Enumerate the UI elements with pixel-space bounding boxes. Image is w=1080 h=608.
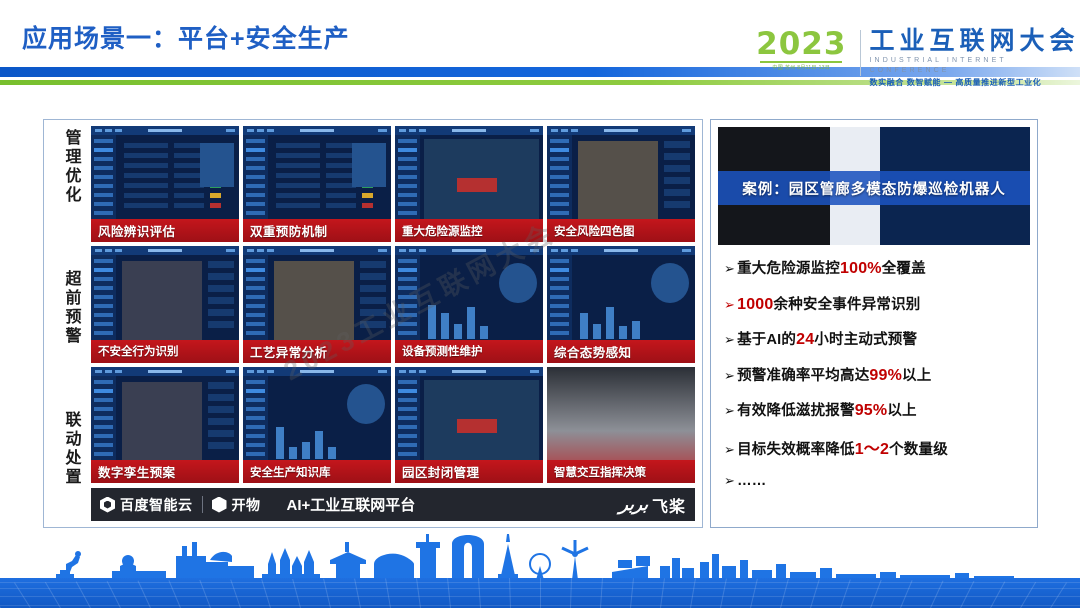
logo-text-block: 工业互联网大会 INDUSTRIAL INTERNET CONFERENCE 数… [870, 28, 1080, 88]
benefit-bullet: ➢预警准确率平均高达99%以上 [724, 364, 1026, 385]
logo-year-block: 2023 中国·苏州 8月11日-13日 [752, 28, 851, 72]
bullet-text: 基于AI的 [737, 328, 796, 349]
floor-grid-line [930, 581, 943, 608]
scenario-card[interactable]: 双重预防机制 [243, 126, 391, 242]
floor-grid-line [138, 581, 151, 608]
scenario-card-caption-label: 设备预测性维护 [395, 343, 483, 359]
case-banner: 案例：园区管廊多模态防爆巡检机器人 [718, 171, 1030, 205]
floor-grid-line [810, 579, 820, 608]
rail-group-1: 超前预警 [61, 270, 81, 346]
scenario-card-caption: 数字孪生预案 [91, 460, 239, 483]
scenario-card[interactable]: 重大危险源监控 [395, 126, 543, 242]
bullet-text: 余种安全事件异常识别 [774, 293, 921, 314]
scenario-card[interactable]: 安全生产知识库 [243, 367, 391, 483]
benefit-bullet-list: ➢重大危险源监控100%全覆盖➢1000余种安全事件异常识别➢基于AI的24小时… [718, 245, 1030, 489]
paddle-label: 飞桨 [652, 493, 686, 517]
logo-divider [860, 30, 861, 76]
bullet-metric: 1000 [737, 296, 773, 314]
scenario-card-caption-label: 园区封闭管理 [395, 462, 479, 481]
floor-grid-line [960, 581, 974, 608]
scenario-card[interactable]: 设备预测性维护 [395, 246, 543, 362]
scenario-card-caption: 设备预测性维护 [395, 340, 543, 363]
scenario-card-caption: 安全生产知识库 [243, 460, 391, 483]
scenario-card-caption: 安全风险四色图 [547, 219, 695, 242]
floor-grid-line [261, 579, 271, 608]
scenario-card[interactable]: 数字孪生预案 [91, 367, 239, 483]
brand-separator [202, 496, 203, 513]
bullet-arrow-icon: ➢ [724, 368, 735, 384]
bullet-text: 个数量级 [889, 438, 948, 459]
floor-grid-line [990, 581, 1005, 608]
scenario-card-caption-label: 重大危险源监控 [395, 223, 483, 239]
kaiwu-icon [212, 497, 227, 513]
bullet-arrow-icon: ➢ [724, 473, 735, 489]
floor-grid-line [780, 579, 789, 608]
bullet-text: …… [737, 473, 766, 489]
scenario-card[interactable]: 园区封闭管理 [395, 367, 543, 483]
floor-grid-line [750, 579, 758, 608]
floor-grid-line-h [0, 582, 1080, 583]
scenario-card-caption: 风险辨识评估 [91, 219, 239, 242]
bullet-text: 重大危险源监控 [737, 257, 840, 278]
scenario-card[interactable]: 工艺异常分析 [243, 246, 391, 362]
scenario-card[interactable]: 智慧交互指挥决策 [547, 367, 695, 483]
conference-name-cn: 工业互联网大会 [870, 28, 1080, 55]
scenario-card-caption-label: 智慧交互指挥决策 [547, 464, 646, 480]
scenario-card-caption: 不安全行为识别 [91, 340, 239, 363]
scenario-card-caption-label: 安全风险四色图 [547, 223, 635, 239]
scenario-card-caption-label: 工艺异常分析 [243, 342, 327, 361]
scenario-card-caption: 综合态势感知 [547, 340, 695, 363]
benefit-bullet: ➢重大危险源监控100%全覆盖 [724, 257, 1026, 278]
brand-bar: 百度智能云 开物 AI+工业互联网平台 بربر 飞桨 [91, 488, 695, 521]
scenario-card-caption-label: 数字孪生预案 [91, 462, 175, 481]
scenario-card-caption: 重大危险源监控 [395, 219, 543, 242]
scenario-card-caption-label: 综合态势感知 [547, 342, 631, 361]
bullet-arrow-icon: ➢ [724, 332, 735, 348]
paddle-logo-icon: بربر [618, 495, 649, 515]
bullet-arrow-icon: ➢ [724, 261, 735, 277]
bullet-text: 以上 [902, 364, 931, 385]
scenario-card-caption: 智慧交互指挥决策 [547, 460, 695, 483]
scenario-card-caption-label: 双重预防机制 [243, 221, 327, 240]
rail-group-0: 管理优化 [61, 129, 81, 205]
skyline-graphic [0, 530, 1080, 580]
floor-grid-line [840, 579, 851, 608]
scenario-card-caption-label: 安全生产知识库 [243, 464, 331, 480]
platform-label: AI+工业互联网平台 [287, 494, 416, 515]
bullet-text: 目标失效概率降低 [737, 438, 855, 459]
bullet-arrow-icon: ➢ [724, 297, 735, 313]
case-banner-label: 案例：园区管廊多模态防爆巡检机器人 [742, 178, 1006, 199]
floor-grid-line-h [0, 605, 1080, 606]
bullet-metric: 95% [855, 402, 888, 420]
bullet-metric: 24 [796, 331, 814, 349]
bullet-text: 有效降低滋扰报警 [737, 399, 855, 420]
case-study-panel: 案例：园区管廊多模态防爆巡检机器人 ➢重大危险源监控100%全覆盖➢1000余种… [710, 119, 1038, 528]
rail-group-2: 联动处置 [61, 411, 81, 487]
floor-grid-line [292, 579, 301, 608]
platform-text: AI+工业互联网平台 [287, 497, 416, 514]
scenario-card[interactable]: 风险辨识评估 [91, 126, 239, 242]
conference-tagline: 数实融合 数智赋能 — 高质量推进新型工业化 [870, 77, 1080, 88]
benefit-bullet: ➢…… [724, 473, 1026, 489]
perspective-floor [0, 578, 1080, 608]
conference-logo: 2023 中国·苏州 8月11日-13日 工业互联网大会 INDUSTRIAL … [752, 28, 1080, 80]
kaiwu-label: 开物 [232, 495, 261, 515]
bullet-metric: 1～2 [855, 435, 889, 459]
footer-skyline [0, 530, 1080, 608]
scenario-card[interactable]: 安全风险四色图 [547, 126, 695, 242]
scenario-card[interactable]: 不安全行为识别 [91, 246, 239, 362]
logo-year: 2023 [752, 28, 851, 60]
bullet-text: 全覆盖 [882, 257, 926, 278]
logo-year-subtitle: 中国·苏州 8月11日-13日 [752, 65, 851, 72]
floor-grid-line [107, 581, 121, 608]
benefit-bullet: ➢目标失效概率降低1～2个数量级 [724, 435, 1026, 459]
slide-header: 应用场景一：平台+安全生产 2023 中国·苏州 8月11日-13日 工业互联网… [0, 0, 1080, 100]
conference-name-en: INDUSTRIAL INTERNET CONFERENCE [870, 56, 1080, 76]
floor-grid-line-h [0, 588, 1080, 589]
bullet-metric: 100% [840, 260, 882, 278]
baidu-cloud-label: 百度智能云 [120, 495, 193, 515]
scenario-card-caption-label: 不安全行为识别 [91, 343, 179, 359]
floor-grid-line [230, 579, 241, 608]
capability-matrix-panel: 管理优化 超前预警 联动处置 风险辨识评估双重预防机制重大危险源监控安全风险四色… [43, 119, 703, 528]
scenario-card-caption: 工艺异常分析 [243, 340, 391, 363]
benefit-bullet: ➢1000余种安全事件异常识别 [724, 293, 1026, 314]
bullet-text: 以上 [887, 399, 916, 420]
benefit-bullet: ➢有效降低滋扰报警95%以上 [724, 399, 1026, 420]
bullet-text: 小时主动式预警 [814, 328, 917, 349]
floor-grid-line-h [0, 596, 1080, 597]
case-media-strip: 案例：园区管廊多模态防爆巡检机器人 [718, 127, 1030, 245]
bullet-arrow-icon: ➢ [724, 403, 735, 419]
floor-grid-line [900, 580, 913, 608]
floor-grid-line [76, 581, 91, 608]
scenario-card-grid: 风险辨识评估双重预防机制重大危险源监控安全风险四色图不安全行为识别工艺异常分析设… [91, 126, 695, 483]
page-title: 应用场景一：平台+安全生产 [22, 19, 350, 55]
floor-grid-line [323, 579, 331, 608]
floor-grid-line [168, 580, 181, 608]
scenario-card-caption: 双重预防机制 [243, 219, 391, 242]
scenario-card-caption: 园区封闭管理 [395, 460, 543, 483]
bullet-text: 预警准确率平均高达 [737, 364, 869, 385]
scenario-card[interactable]: 综合态势感知 [547, 246, 695, 362]
baidu-cloud-icon [100, 497, 115, 513]
bullet-metric: 99% [869, 367, 902, 385]
category-rail: 管理优化 超前预警 联动处置 [50, 126, 91, 521]
floor-grid-line [199, 580, 211, 608]
scenario-card-caption-label: 风险辨识评估 [91, 221, 175, 240]
floor-grid-line [870, 580, 882, 608]
bullet-arrow-icon: ➢ [724, 442, 735, 458]
benefit-bullet: ➢基于AI的24小时主动式预警 [724, 328, 1026, 349]
